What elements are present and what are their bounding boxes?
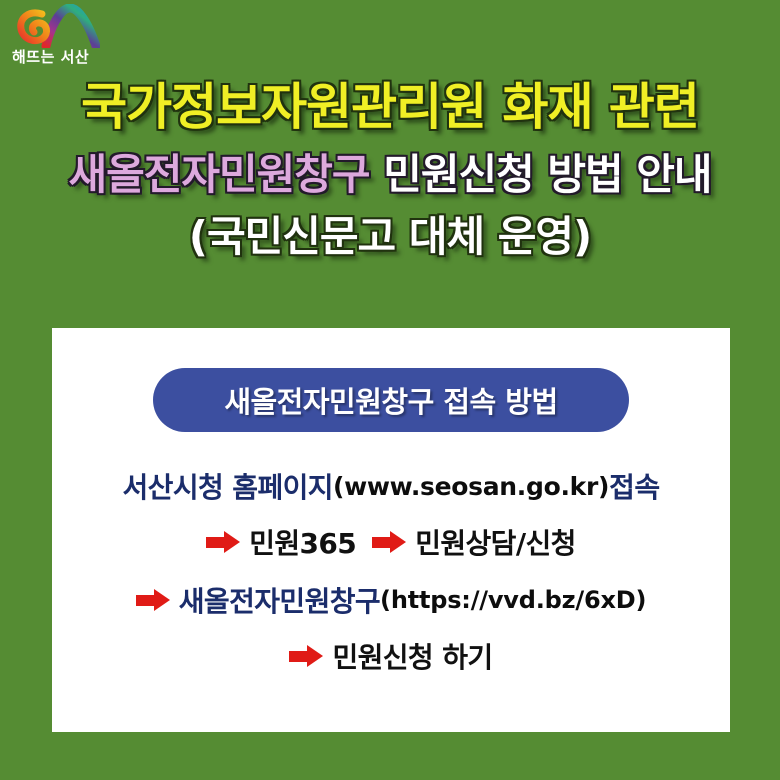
headline-line-1: 국가정보자원관리원 화재 관련 (0, 78, 780, 136)
right-arrow-icon (136, 589, 170, 611)
step-3-portal-name: 새올전자민원창구 (179, 580, 380, 620)
step-3-portal-url: (https://vvd.bz/6xD) (380, 586, 646, 614)
right-arrow-icon (372, 531, 406, 553)
step-row: 새올전자민원창구(https://vvd.bz/6xD) (52, 580, 730, 620)
access-method-banner-label: 새올전자민원창구 접속 방법 (224, 379, 557, 421)
headline-line-2-highlight: 새올전자민원창구 (68, 150, 369, 199)
headline-line-2: 새올전자민원창구 민원신청 방법 안내 (0, 150, 780, 200)
seosan-sunrise-swirl-icon (16, 4, 100, 48)
step-1-action: 접속 (609, 466, 659, 506)
right-arrow-icon (289, 645, 323, 667)
steps-list: 서산시청 홈페이지(www.seosan.go.kr) 접속 민원365 민원상… (52, 466, 730, 676)
step-2-menu-consult-apply: 민원상담/신청 (415, 522, 576, 562)
access-method-banner: 새올전자민원창구 접속 방법 (153, 368, 629, 432)
step-row: 민원365 민원상담/신청 (52, 522, 730, 562)
info-card: 새올전자민원창구 접속 방법 서산시청 홈페이지(www.seosan.go.k… (52, 328, 730, 732)
step-2-menu-minwon365: 민원365 (249, 522, 356, 562)
brand-logo: 해뜨는 서산 (8, 4, 188, 70)
headline-line-3: (국민신문고 대체 운영) (0, 212, 780, 262)
step-row: 민원신청 하기 (52, 636, 730, 676)
poster-canvas: 해뜨는 서산 국가정보자원관리원 화재 관련 새올전자민원창구 민원신청 방법 … (0, 0, 780, 780)
headline-group: 국가정보자원관리원 화재 관련 새올전자민원창구 민원신청 방법 안내 (국민신… (0, 78, 780, 261)
step-1-site-name: 서산시청 홈페이지 (123, 466, 333, 506)
step-row: 서산시청 홈페이지(www.seosan.go.kr) 접속 (52, 466, 730, 506)
right-arrow-icon (206, 531, 240, 553)
step-4-apply-action: 민원신청 하기 (332, 636, 492, 676)
headline-line-2-rest: 민원신청 방법 안내 (383, 150, 711, 199)
brand-logo-caption: 해뜨는 서산 (12, 46, 89, 67)
step-1-site-url: (www.seosan.go.kr) (333, 472, 609, 501)
